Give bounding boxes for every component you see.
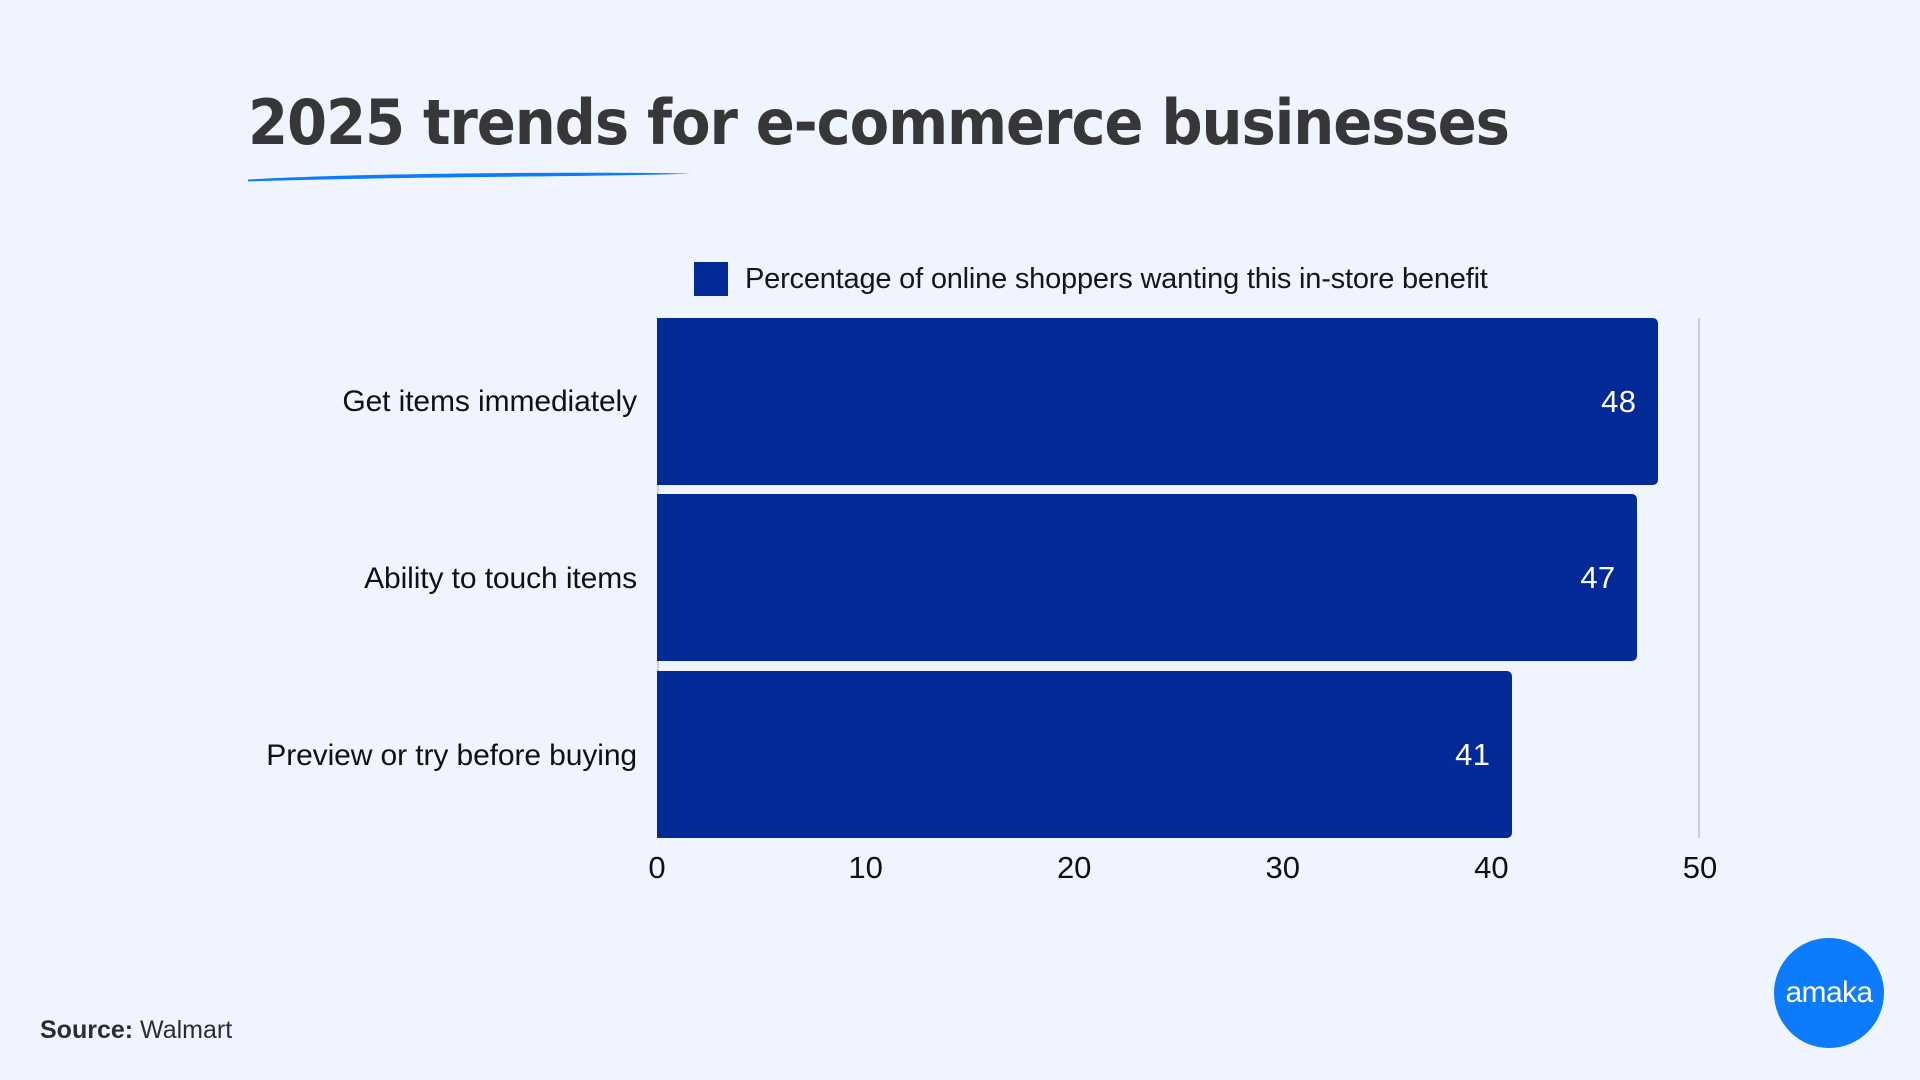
title-underline-accent xyxy=(245,168,695,184)
category-label: Preview or try before buying xyxy=(77,739,637,773)
source-line: Source: Walmart xyxy=(40,1016,232,1045)
x-tick-label: 50 xyxy=(1683,850,1717,886)
amaka-logo[interactable]: amaka xyxy=(1774,938,1884,1048)
source-label: Source: xyxy=(40,1016,133,1044)
category-label: Ability to touch items xyxy=(77,562,637,596)
bar-value-label: 47 xyxy=(1580,560,1637,596)
bar-row[interactable]: 41 xyxy=(657,671,1512,838)
x-tick-label: 20 xyxy=(1057,850,1091,886)
x-tick-label: 10 xyxy=(848,850,882,886)
chart-legend: Percentage of online shoppers wanting th… xyxy=(694,262,1488,296)
x-tick-label: 40 xyxy=(1474,850,1508,886)
page-title: 2025 trends for e-commerce businesses xyxy=(248,90,1569,155)
gridline-50 xyxy=(1698,318,1700,838)
title-block: 2025 trends for e-commerce businesses xyxy=(248,90,1668,155)
legend-color-swatch xyxy=(694,262,728,296)
bar-rect xyxy=(657,318,1658,485)
x-tick-label: 0 xyxy=(648,850,665,886)
bar-row[interactable]: 47 xyxy=(657,494,1637,661)
bar-value-label: 41 xyxy=(1455,737,1512,773)
plot-area: 48 47 41 xyxy=(657,318,1700,838)
logo-text: amaka xyxy=(1785,976,1872,1010)
bar-row[interactable]: 48 xyxy=(657,318,1658,485)
bar-rect xyxy=(657,671,1512,838)
legend-label: Percentage of online shoppers wanting th… xyxy=(745,263,1488,296)
x-axis: 0 10 20 30 40 50 xyxy=(657,850,1700,894)
source-value: Walmart xyxy=(140,1016,232,1044)
bar-value-label: 48 xyxy=(1601,384,1658,420)
category-label: Get items immediately xyxy=(77,385,637,419)
bar-rect xyxy=(657,494,1637,661)
x-tick-label: 30 xyxy=(1266,850,1300,886)
